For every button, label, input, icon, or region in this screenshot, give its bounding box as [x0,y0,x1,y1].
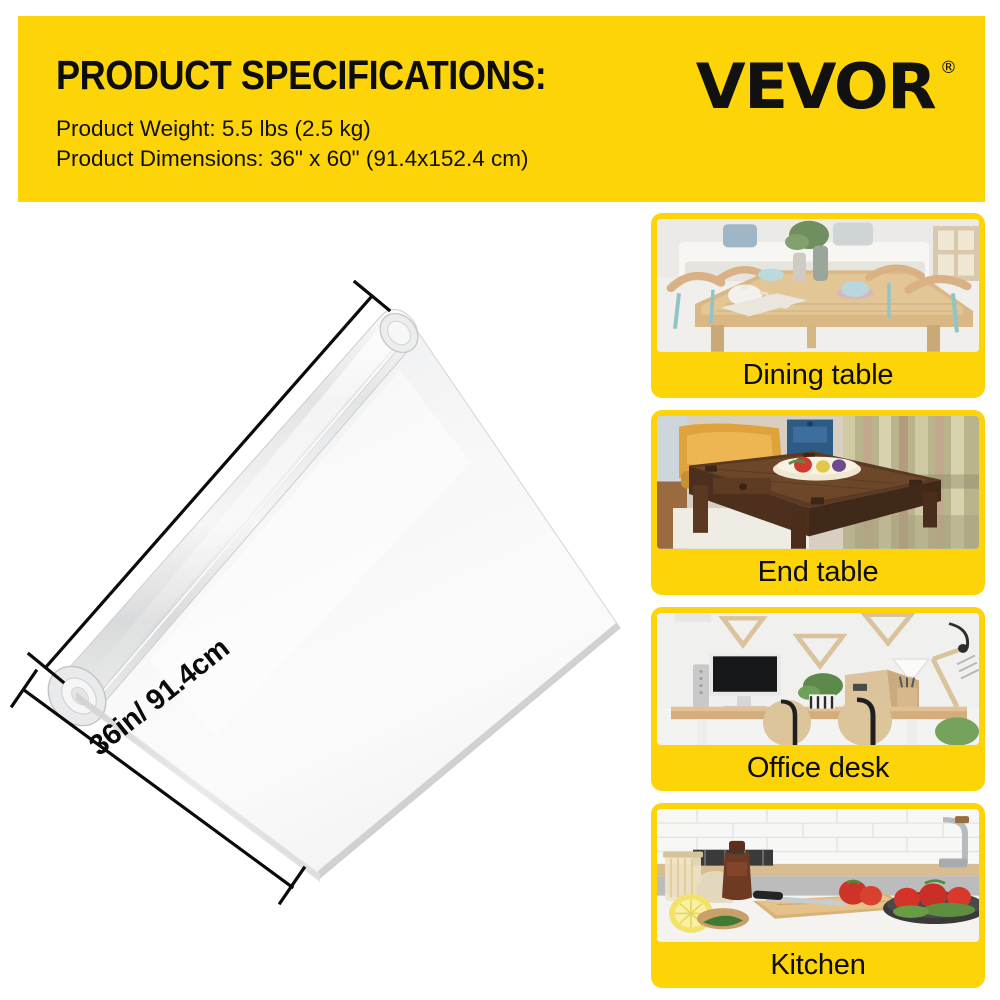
usecase-label-kitchen: Kitchen [657,942,979,988]
spec-product-dimensions: Product Dimensions: 36" x 60" (91.4x152.… [56,144,776,174]
spec-product-weight: Product Weight: 5.5 lbs (2.5 kg) [56,114,776,144]
product-spec-page: PRODUCT SPECIFICATIONS: Product Weight: … [0,0,1000,1000]
dining-table-photo [657,219,979,352]
usecase-card-kitchen[interactable]: Kitchen [651,803,985,988]
usecase-card-end-table[interactable]: End table [651,410,985,595]
usecase-label-office-desk: Office desk [657,745,979,791]
office-desk-photo [657,613,979,746]
vevor-logo: VEVOR ® [705,56,957,126]
product-hero-image: 36in/ 91.4cm 60in/ 152.4cm [0,230,645,930]
table-mat-illustration [0,230,645,930]
usecase-card-dining-table[interactable]: Dining table [651,213,985,398]
page-title: PRODUCT SPECIFICATIONS: [56,52,546,98]
usecase-card-office-desk[interactable]: Office desk [651,607,985,792]
usecase-card-list: Dining table [651,213,985,988]
specifications-banner: PRODUCT SPECIFICATIONS: Product Weight: … [18,16,985,202]
usecase-label-dining-table: Dining table [657,352,979,398]
end-table-photo [657,416,979,549]
brand-wordmark: VEVOR [696,56,935,118]
kitchen-photo [657,809,979,942]
usecase-label-end-table: End table [657,549,979,595]
specifications-list: Product Weight: 5.5 lbs (2.5 kg) Product… [56,114,776,174]
registered-trademark-icon: ® [940,60,957,77]
